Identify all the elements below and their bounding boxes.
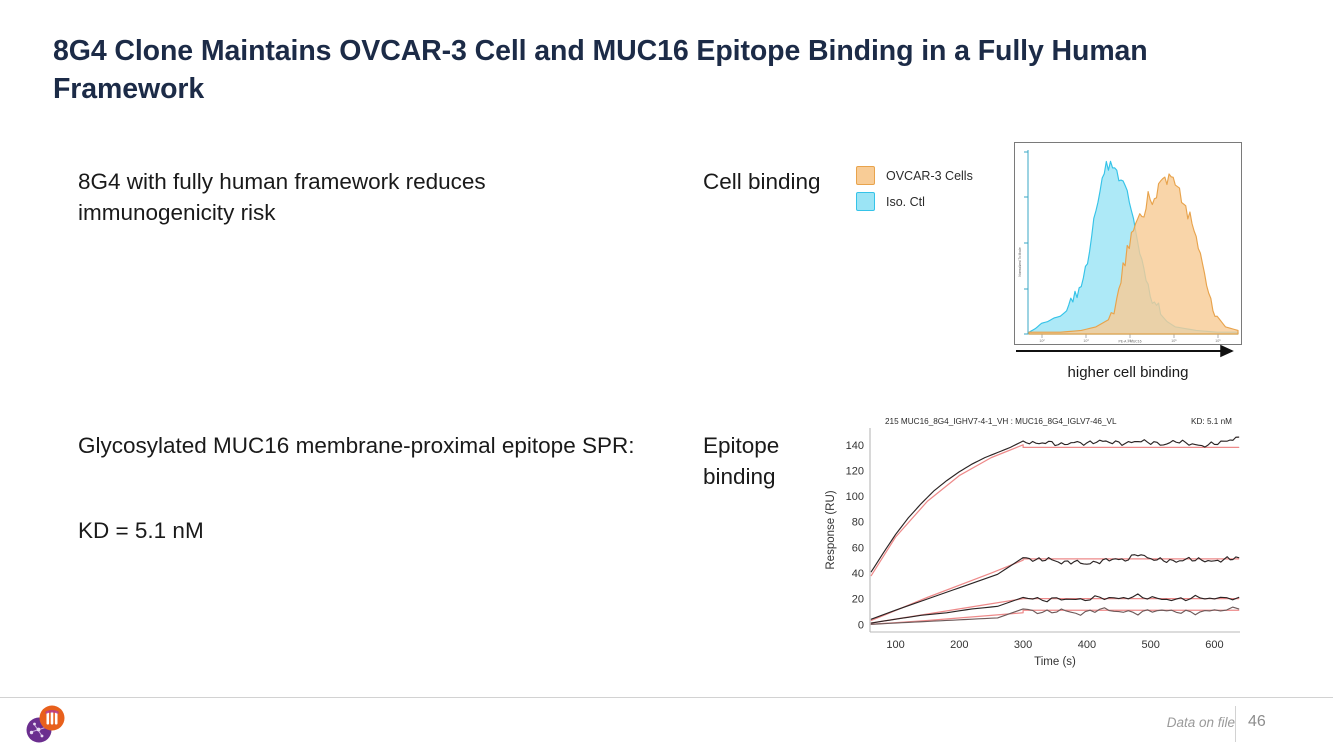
spr-x-tick: 100: [886, 639, 904, 651]
higher-binding-caption: higher cell binding: [1014, 364, 1242, 381]
svg-text:10⁶: 10⁶: [1215, 339, 1221, 343]
spr-x-tick: 300: [1014, 639, 1032, 651]
spr-kd-annotation: KD: 5.1 nM: [1191, 417, 1232, 426]
histogram-y-axis-label: Normalized To Mode: [1018, 247, 1022, 276]
spr-y-tick: 40: [852, 568, 864, 580]
spr-x-tick: 500: [1142, 639, 1160, 651]
spr-x-tick-labels: 100200300400500600: [886, 639, 1223, 651]
spr-y-tick-labels: 020406080100120140: [846, 440, 864, 631]
flow-legend: OVCAR-3 Cells Iso. Ctl: [856, 166, 1016, 218]
spr-header-left: 215 MUC16_8G4_IGHV7-4-1_VH : MUC16_8G4_I…: [885, 417, 1117, 426]
legend-item-iso-ctl: Iso. Ctl: [856, 192, 1016, 211]
footer-note: Data on file: [1167, 715, 1235, 730]
spr-y-axis-label: Response (RU): [825, 490, 837, 569]
legend-swatch-ovcar3: [856, 166, 875, 185]
spr-curves: [871, 437, 1238, 624]
spr-curve-concentration-3-fit: [871, 599, 1238, 623]
row-label-cell-binding: Cell binding: [703, 166, 833, 197]
spr-y-tick: 120: [846, 465, 864, 477]
body-text-spr-description: Glycosylated MUC16 membrane-proximal epi…: [78, 430, 658, 461]
svg-text:10⁵: 10⁵: [1171, 339, 1177, 343]
spr-y-tick: 80: [852, 517, 864, 529]
legend-label-iso-ctl: Iso. Ctl: [886, 195, 925, 209]
spr-sensorgram-panel: 215 MUC16_8G4_IGHV7-4-1_VH : MUC16_8G4_I…: [822, 412, 1252, 687]
page-number: 46: [1248, 713, 1308, 731]
page-title: 8G4 Clone Maintains OVCAR-3 Cell and MUC…: [53, 33, 1253, 108]
svg-text:10³: 10³: [1083, 339, 1089, 343]
slide-canvas: 8G4 Clone Maintains OVCAR-3 Cell and MUC…: [0, 0, 1333, 749]
histogram-x-axis-caption: PE-A :: MUC16: [1119, 340, 1142, 344]
spr-x-tick: 200: [950, 639, 968, 651]
footer-vertical-divider: [1235, 706, 1236, 742]
spr-curve-concentration-1-fit: [871, 445, 1238, 576]
legend-item-ovcar3: OVCAR-3 Cells: [856, 166, 1016, 185]
footer-divider-rule: [0, 697, 1333, 698]
spr-x-tick: 400: [1078, 639, 1096, 651]
spr-x-axis-label: Time (s): [1034, 656, 1076, 668]
spr-y-tick: 0: [858, 619, 864, 631]
body-text-immunogenicity: 8G4 with fully human framework reduces i…: [78, 166, 638, 228]
spr-x-tick: 600: [1205, 639, 1223, 651]
flow-cytometry-panel: OVCAR-3 Cells Iso. Ctl Normalized To Mod…: [842, 142, 1242, 387]
spr-sensorgram-chart: 215 MUC16_8G4_IGHV7-4-1_VH : MUC16_8G4_I…: [822, 412, 1252, 687]
company-logo-icon: [25, 705, 67, 743]
legend-label-ovcar3: OVCAR-3 Cells: [886, 169, 973, 183]
spr-y-tick: 60: [852, 542, 864, 554]
kd-value-text: KD = 5.1 nM: [78, 515, 498, 546]
higher-binding-arrow: [1014, 344, 1242, 362]
spr-y-tick: 140: [846, 440, 864, 452]
spr-y-tick: 20: [852, 594, 864, 606]
spr-curve-concentration-2-data: [871, 555, 1238, 619]
spr-curve-concentration-1-data: [871, 437, 1238, 572]
svg-text:10²: 10²: [1039, 339, 1045, 343]
flow-cytometry-histogram: Normalized To Mode 10² 10³ 10⁴ 10⁵ 10⁶ P…: [1014, 142, 1242, 362]
legend-swatch-iso-ctl: [856, 192, 875, 211]
spr-y-tick: 100: [846, 491, 864, 503]
